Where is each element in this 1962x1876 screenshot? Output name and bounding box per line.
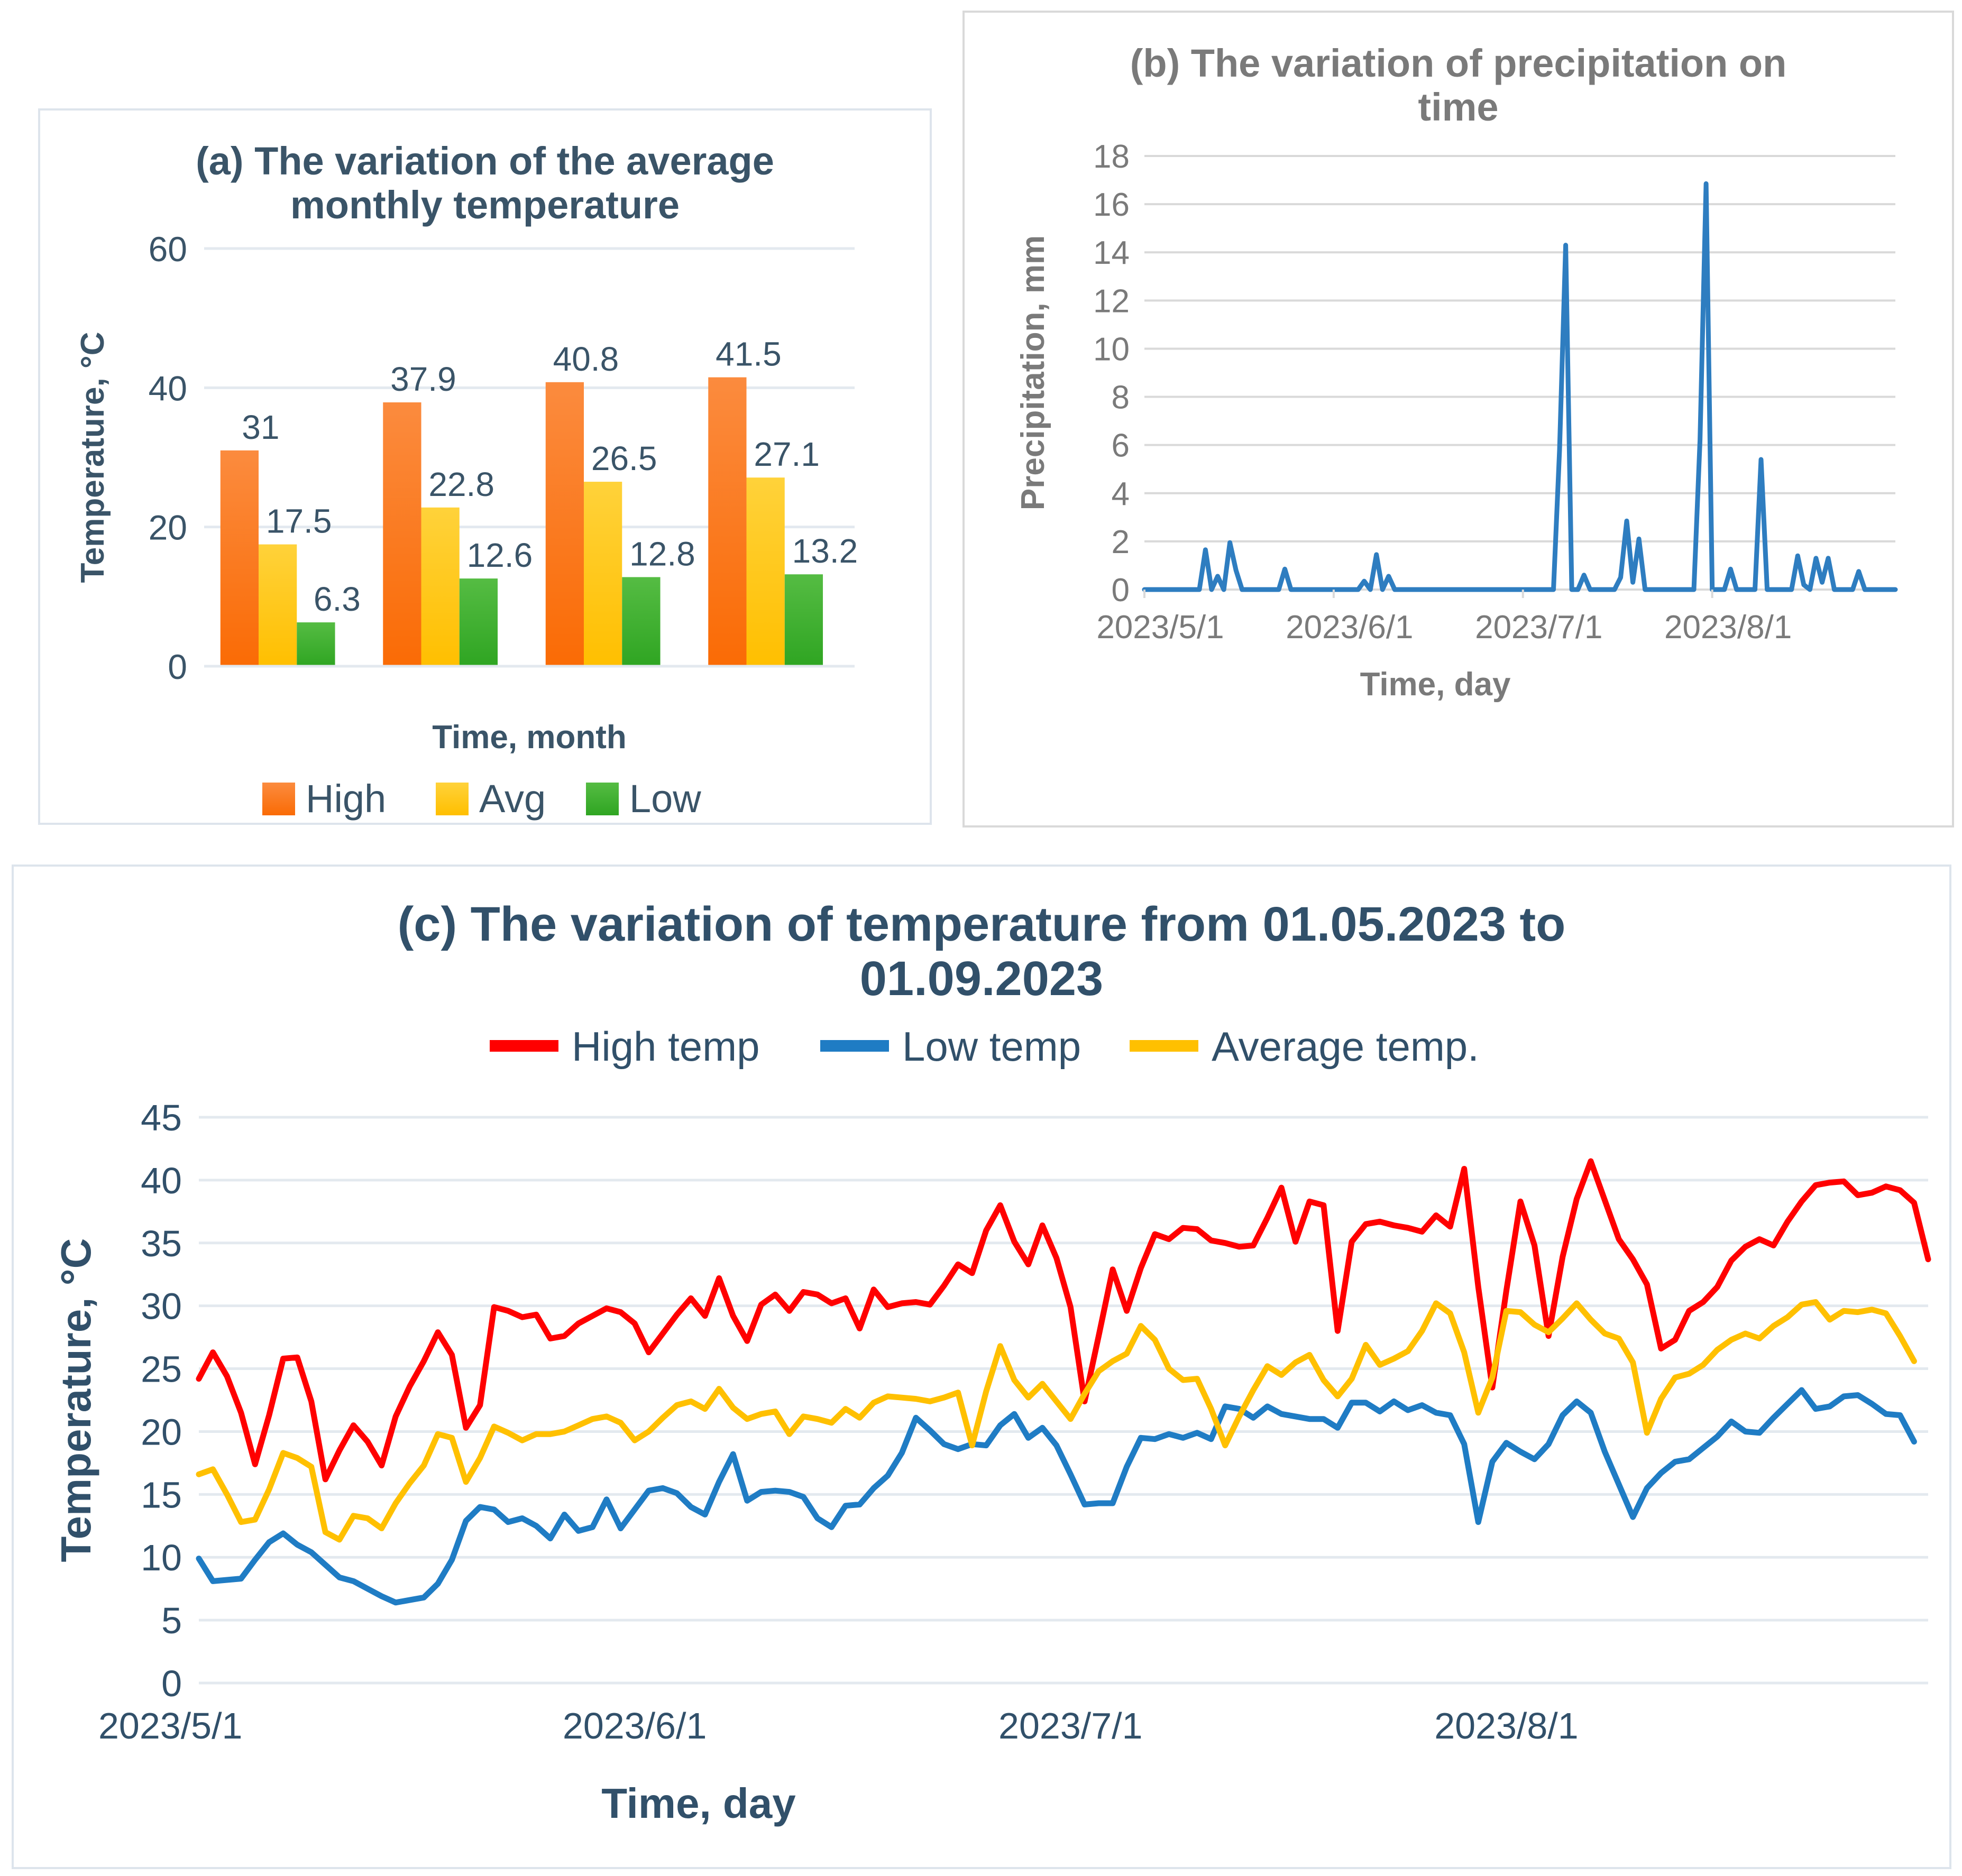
panel-b-xtick: 2023/7/1 (1475, 609, 1602, 646)
panel-b-xtick: 2023/5/1 (1096, 609, 1224, 646)
panel-c-ytick: 15 (141, 1474, 182, 1515)
panel-a-container: (a) The variation of the average monthly… (38, 108, 932, 825)
bar-value-label: 26.5 (591, 439, 657, 477)
panel-a-ytick: 60 (149, 229, 187, 269)
bar-value-label: 27.1 (754, 435, 820, 473)
panel-a-ytick: 20 (149, 508, 187, 547)
panel-b-ytick: 10 (1093, 331, 1130, 367)
bar-low (622, 577, 660, 666)
precipitation-line (1144, 183, 1895, 590)
bar-value-label: 13.2 (792, 532, 858, 570)
legend-label-low: Low (629, 777, 701, 821)
bar-value-label: 17.5 (266, 502, 332, 540)
bar-low (297, 622, 335, 666)
panel-b-ytick: 6 (1112, 427, 1130, 464)
panel-c-xtick: 2023/7/1 (998, 1705, 1142, 1746)
panel-a-plot: 02040603117.56.337.922.812.640.826.512.8… (40, 227, 865, 767)
bar-value-label: 40.8 (553, 340, 619, 378)
line-low-temp (199, 1390, 1914, 1603)
panel-a-ytick: 40 (149, 369, 187, 408)
bar-avg (259, 544, 297, 666)
panel-a-xaxis-label: Time, month (432, 719, 626, 756)
legend-label-low-temp: Low temp (902, 1023, 1081, 1070)
panel-a-ytick: 0 (168, 647, 187, 686)
bar-value-label: 41.5 (716, 335, 782, 373)
panel-b-container: (b) The variation of precipitation on ti… (962, 11, 1954, 827)
panel-b-title: (b) The variation of precipitation on ti… (1094, 42, 1823, 130)
bar-high (221, 450, 259, 666)
panel-c-legend: High tempLow tempAverage temp. (14, 1006, 1949, 1086)
panel-b-yaxis-label: Precipitation, mm (1015, 235, 1051, 510)
panel-b-xtick: 2023/8/1 (1664, 609, 1792, 646)
legend-label-average-temp-: Average temp. (1212, 1023, 1479, 1070)
panel-b-ytick: 18 (1093, 139, 1130, 175)
bar-avg (421, 508, 460, 666)
panel-c-yaxis-label: Temperature, °C (52, 1238, 99, 1562)
bar-avg (747, 477, 785, 666)
panel-c-xtick: 2023/8/1 (1434, 1705, 1578, 1746)
panel-b-ytick: 2 (1112, 524, 1130, 560)
bar-high (546, 382, 584, 666)
panel-c-ytick: 35 (141, 1223, 182, 1264)
panel-c-title: (c) The variation of temperature from 01… (347, 897, 1616, 1006)
legend-swatch-high (262, 783, 295, 815)
bar-low (785, 574, 823, 666)
panel-c-ytick: 10 (141, 1537, 182, 1578)
bar-value-label: 6.3 (314, 580, 361, 618)
legend-label-high-temp: High temp (572, 1023, 760, 1070)
panel-b-ytick: 0 (1112, 572, 1130, 609)
panel-c-container: (c) The variation of temperature from 01… (12, 865, 1951, 1869)
panel-c-plot: 0510152025303540452023/5/12023/6/12023/7… (14, 1086, 1949, 1836)
legend-label-avg: Avg (479, 777, 546, 821)
panel-c-xtick: 2023/6/1 (563, 1705, 707, 1746)
bar-value-label: 31 (242, 408, 279, 446)
panel-b-plot: 0246810121416182023/5/12023/6/12023/7/12… (965, 130, 1917, 748)
panel-c-ytick: 40 (141, 1160, 182, 1201)
panel-c-xaxis-label: Time, day (601, 1780, 796, 1827)
legend-label-high: High (306, 777, 386, 821)
panel-a-title: (a) The variation of the average monthly… (131, 140, 839, 227)
bar-high (708, 377, 746, 666)
panel-c-ytick: 5 (161, 1600, 182, 1641)
panel-b-ytick: 4 (1112, 476, 1130, 512)
panel-a-yaxis-label: Temperature, °C (75, 332, 111, 583)
panel-c-ytick: 25 (141, 1349, 182, 1390)
panel-c-ytick: 30 (141, 1286, 182, 1327)
panel-b-ytick: 12 (1093, 283, 1130, 319)
panel-b-xtick: 2023/6/1 (1286, 609, 1413, 646)
panel-a-legend: HighAvgLow (40, 767, 865, 835)
legend-swatch-low (586, 783, 619, 815)
bar-avg (584, 482, 622, 666)
legend-swatch-avg (436, 783, 469, 815)
bar-value-label: 37.9 (390, 360, 456, 398)
panel-b-ytick: 14 (1093, 235, 1130, 271)
panel-b-ytick: 16 (1093, 187, 1130, 223)
bar-high (383, 402, 421, 666)
panel-c-ytick: 0 (161, 1663, 182, 1704)
panel-c-xtick: 2023/5/1 (98, 1705, 242, 1746)
panel-c-ytick: 45 (141, 1097, 182, 1138)
bar-value-label: 12.8 (629, 535, 695, 573)
bar-value-label: 12.6 (467, 536, 533, 574)
bar-value-label: 22.8 (428, 465, 494, 503)
panel-b-xaxis-label: Time, day (1360, 666, 1511, 703)
panel-c-ytick: 20 (141, 1412, 182, 1453)
bar-low (460, 578, 498, 666)
panel-b-ytick: 8 (1112, 379, 1130, 416)
